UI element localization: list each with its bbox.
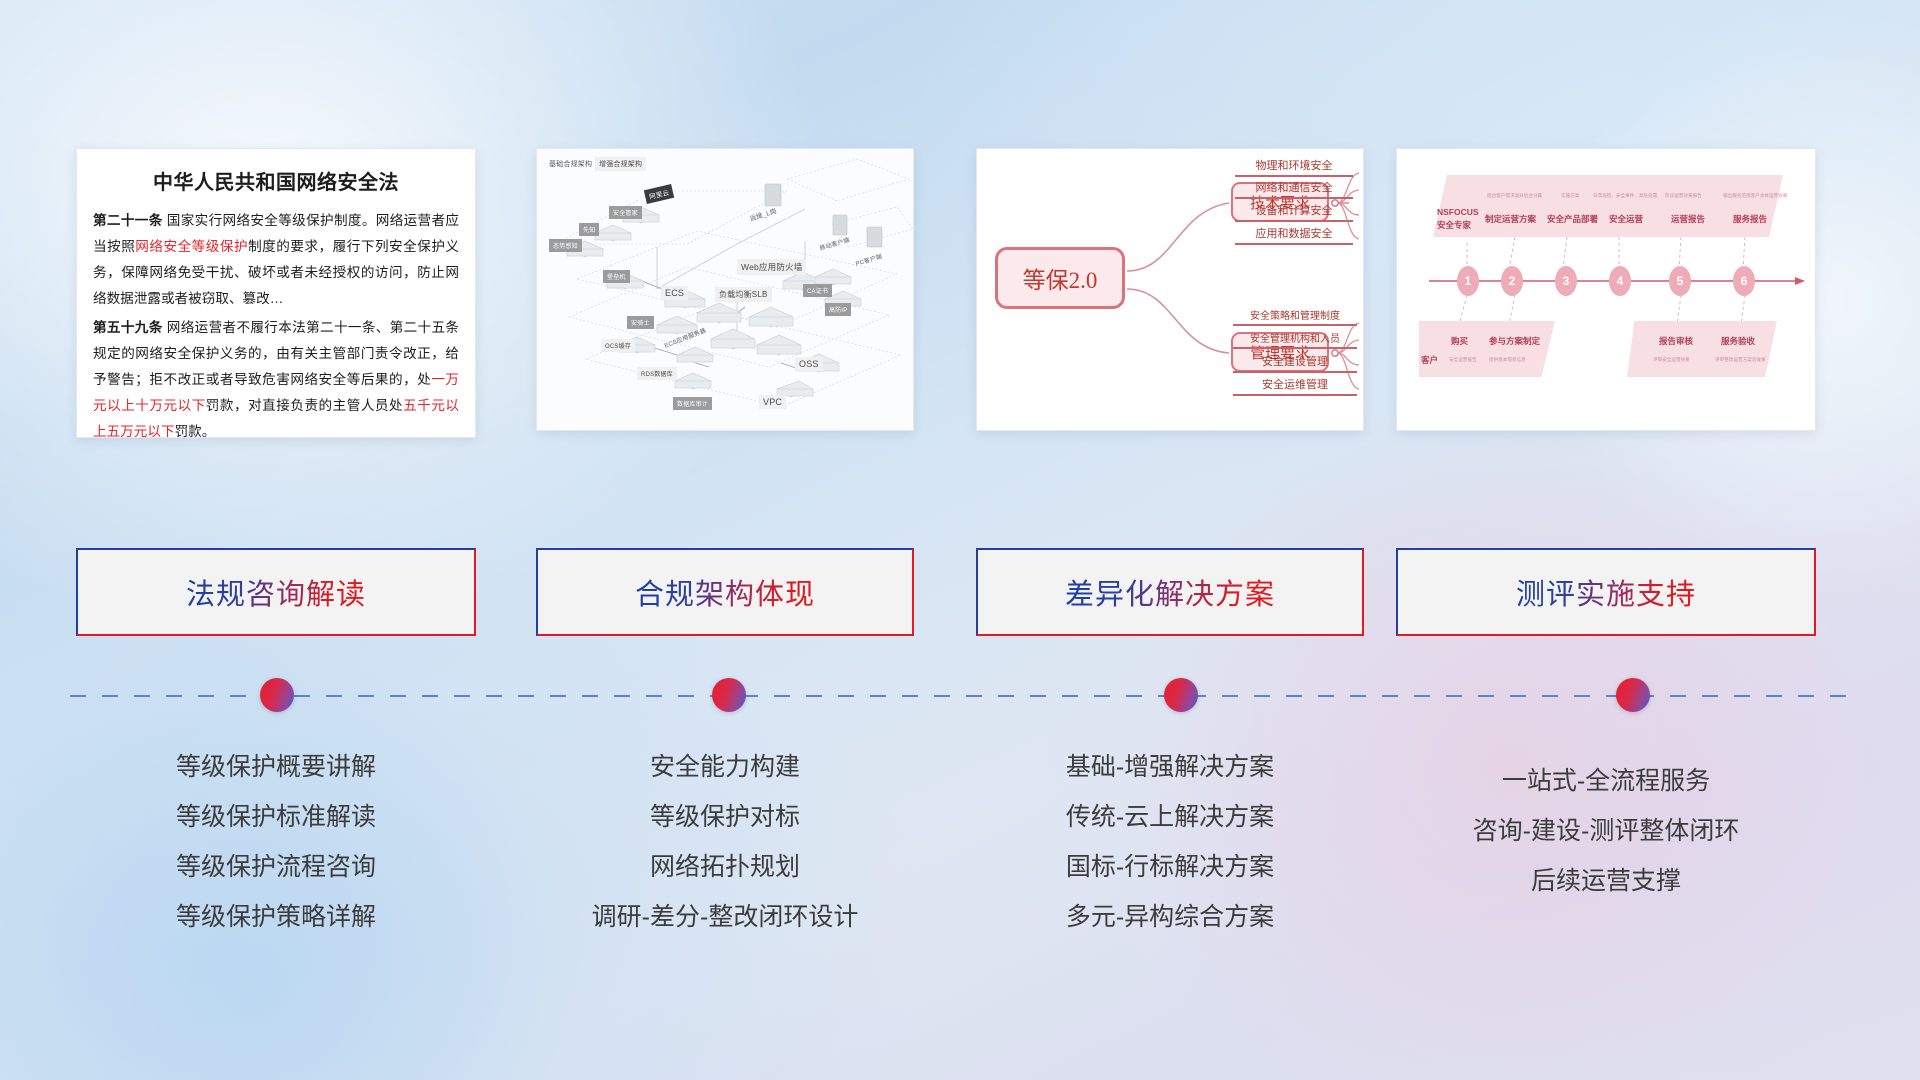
mindmap-leaf-tech-4: 应用和数据安全 (1235, 225, 1353, 245)
arch-node-waf: Web应用防火墙 (737, 259, 806, 275)
detail-item: 后续运营支撑 (1396, 856, 1816, 906)
arch-tab-enhanced[interactable]: 增强合规架构 (595, 157, 646, 171)
timeline-marker-3[interactable] (1164, 678, 1198, 712)
headline-label-4: 测评实施支持 (1516, 571, 1696, 613)
timeline-marker-4[interactable] (1616, 678, 1650, 712)
arch-node-vpc: VPC (759, 395, 786, 409)
timeline-top-step-1: 制定运营方案 (1485, 213, 1536, 225)
preview-cards-row: 中华人民共和国网络安全法 第二十一条 国家实行网络安全等级保护制度。网络运营者应… (0, 148, 1920, 448)
detail-column-3: 基础-增强解决方案 传统-云上解决方案 国标-行标解决方案 多元-异构综合方案 (976, 742, 1364, 942)
law-title: 中华人民共和国网络安全法 (77, 166, 475, 195)
mindmap-leaf-mgmt-3: 安全建设管理 (1233, 353, 1357, 373)
timeline-provider-name: NSFOCUS (1437, 207, 1479, 217)
law-article-59-part2: 罚款，对直接负责的主管人员处 (206, 398, 403, 413)
detail-item: 传统-云上解决方案 (976, 792, 1364, 842)
timeline-customer-role: 客户 (1421, 354, 1438, 366)
timeline-bottom-sub-4: 评审整改运营方案验收果 (1715, 357, 1766, 363)
arch-node-ca-certificate: CA证书 (803, 284, 832, 297)
card-nsfocus-timeline[interactable]: NSFOCUS 安全专家 客户 结合客户需求高效后台分属 实施方案 日常巡检、安… (1396, 148, 1816, 431)
arch-node-rds-database: RDS数据库 (637, 367, 677, 380)
detail-item: 网络拓扑规划 (536, 842, 914, 892)
timeline-step-number-1: 1 (1457, 266, 1479, 296)
timeline-bottom-step-2: 参与方案制定 (1489, 335, 1540, 347)
detail-item: 等级保护标准解读 (76, 792, 476, 842)
timeline-top-step-3: 安全运营 (1609, 213, 1643, 225)
process-timeline (70, 694, 1860, 698)
law-body: 第二十一条 国家实行网络安全等级保护制度。网络运营者应当按照网络安全等级保护制度… (77, 208, 475, 438)
timeline-top-step-2: 安全产品部署 (1547, 213, 1598, 225)
detail-item: 等级保护策略详解 (76, 892, 476, 942)
detail-item: 一站式-全流程服务 (1396, 756, 1816, 806)
law-article-59-label: 第五十九条 (93, 320, 163, 335)
card-cybersecurity-law[interactable]: 中华人民共和国网络安全法 第二十一条 国家实行网络安全等级保护制度。网络运营者应… (76, 148, 476, 438)
arch-node-slb: 负载均衡SLB (715, 287, 772, 302)
law-article-21-label: 第二十一条 (93, 213, 163, 228)
detail-item: 安全能力构建 (536, 742, 914, 792)
arch-tab-basic[interactable]: 基础合规架构 (545, 157, 596, 171)
law-article-59: 第五十九条 网络运营者不履行本法第二十一条、第二十五条规定的网络安全保护义务的，… (93, 315, 459, 438)
timeline-bottom-step-3: 报告审核 (1659, 335, 1693, 347)
timeline-bottom-sub-3: 评审安全运营效果 (1653, 357, 1690, 363)
timeline-bottom-step-4: 服务验收 (1721, 335, 1755, 347)
timeline-top-sub-1: 结合客户需求高效后台分属 (1487, 193, 1542, 199)
mindmap-leaf-mgmt-1: 安全策略和管理制度 (1233, 307, 1357, 326)
timeline-top-sub-4: 阶段运营效果报告 (1665, 193, 1702, 199)
mindmap-root-node[interactable]: 等保2.0 (995, 247, 1125, 309)
headline-row: 法规咨询解读 合规架构体现 差异化解决方案 测评实施支持 (0, 548, 1920, 643)
detail-column-1: 等级保护概要讲解 等级保护标准解读 等级保护流程咨询 等级保护策略详解 (76, 742, 476, 942)
timeline-bottom-step-1: 购买 (1451, 335, 1468, 347)
timeline-bottom-sub-1: 安全运营报告 (1449, 357, 1477, 363)
detail-item: 咨询-建设-测评整体闭环 (1396, 806, 1816, 856)
timeline-band-customer-left (1419, 321, 1555, 377)
timeline-top-step-5: 服务报告 (1733, 213, 1767, 225)
arch-node-security-butler: 安全管家 (609, 206, 642, 219)
mindmap-leaf-tech-2: 网络和通信安全 (1235, 179, 1353, 199)
card-mindmap-dengbao[interactable]: 等保2.0 技术要求 管理要求 物理和环境安全 网络和通信安全 设备和计算安全 … (976, 148, 1364, 431)
arch-node-ocs-cache: OCS缓存 (601, 339, 635, 352)
timeline-step-number-3: 3 (1555, 266, 1577, 296)
timeline-marker-1[interactable] (260, 678, 294, 712)
arch-node-database-audit: 数据库审计 (673, 397, 712, 410)
timeline-step-number-2: 2 (1501, 266, 1523, 296)
architecture-diagram: 基础合规架构 增强合规架构 阿里云 安全管家 先知 态势感知 堡垒机 安骑士 O… (537, 149, 913, 430)
mindmap-leaf-mgmt-2: 安全管理机构和人员 (1233, 330, 1357, 349)
detail-column-4: 一站式-全流程服务 咨询-建设-测评整体闭环 后续运营支撑 (1396, 756, 1816, 906)
headline-label-1: 法规咨询解读 (186, 571, 366, 613)
mindmap-leaf-tech-3: 设备和计算安全 (1235, 202, 1353, 222)
timeline-step-number-6: 6 (1733, 266, 1755, 296)
detail-item: 国标-行标解决方案 (976, 842, 1364, 892)
headline-label-2: 合规架构体现 (635, 571, 815, 613)
detail-item: 等级保护概要讲解 (76, 742, 476, 792)
card-cloud-architecture[interactable]: 基础合规架构 增强合规架构 阿里云 安全管家 先知 态势感知 堡垒机 安骑士 O… (536, 148, 914, 431)
timeline-top-sub-3: 日常巡检、安全事件、高危处置 (1593, 193, 1657, 199)
mindmap-leaf-tech-1: 物理和环境安全 (1235, 157, 1353, 177)
arch-node-situational-awareness: 态势感知 (549, 239, 582, 252)
timeline-band-customer-right (1627, 321, 1777, 377)
arch-node-xianzhi: 先知 (579, 223, 599, 236)
timeline-provider-role: 安全专家 (1437, 219, 1471, 231)
headline-box-assessment-support[interactable]: 测评实施支持 (1396, 548, 1816, 636)
detail-item: 等级保护流程咨询 (76, 842, 476, 892)
headline-label-3: 差异化解决方案 (1065, 571, 1275, 613)
headline-box-regulation-consulting[interactable]: 法规咨询解读 (76, 548, 476, 636)
timeline-marker-2[interactable] (712, 678, 746, 712)
detail-item: 基础-增强解决方案 (976, 742, 1364, 792)
detail-item: 等级保护对标 (536, 792, 914, 842)
detail-columns: 等级保护概要讲解 等级保护标准解读 等级保护流程咨询 等级保护策略详解 安全能力… (0, 742, 1920, 972)
mindmap-leaf-mgmt-4: 安全运维管理 (1233, 376, 1357, 396)
arch-node-anti-ddos-ip: 高防IP (825, 303, 851, 316)
timeline-step-number-5: 5 (1669, 266, 1691, 296)
timeline-top-sub-5: 输出服务范围客户总体运营效果 (1723, 193, 1787, 199)
law-article-59-part3: 罚款。 (175, 424, 216, 438)
detail-item: 调研-差分-整改闭环设计 (536, 892, 914, 942)
timeline-band-provider (1433, 175, 1783, 237)
arch-node-oss: OSS (795, 357, 823, 371)
arch-node-anqishi: 安骑士 (627, 316, 654, 329)
detail-item: 多元-异构综合方案 (976, 892, 1364, 942)
law-article-21-highlight: 网络安全等级保护 (135, 239, 248, 254)
arch-node-ecs: ECS (661, 286, 688, 300)
detail-column-2: 安全能力构建 等级保护对标 网络拓扑规划 调研-差分-整改闭环设计 (536, 742, 914, 942)
timeline-top-step-4: 运营报告 (1671, 213, 1705, 225)
arch-node-bastion-host: 堡垒机 (603, 270, 630, 283)
headline-box-compliance-architecture[interactable]: 合规架构体现 (536, 548, 914, 636)
law-article-21: 第二十一条 国家实行网络安全等级保护制度。网络运营者应当按照网络安全等级保护制度… (93, 208, 459, 312)
headline-box-differentiated-solution[interactable]: 差异化解决方案 (976, 548, 1364, 636)
mindmap: 等保2.0 技术要求 管理要求 物理和环境安全 网络和通信安全 设备和计算安全 … (977, 149, 1363, 430)
timeline-step-number-4: 4 (1609, 266, 1631, 296)
timeline-bottom-sub-2: 提供基本现状信息 (1489, 357, 1526, 363)
nsfocus-timeline: NSFOCUS 安全专家 客户 结合客户需求高效后台分属 实施方案 日常巡检、安… (1397, 149, 1815, 430)
timeline-top-sub-2: 实施方案 (1561, 193, 1579, 199)
